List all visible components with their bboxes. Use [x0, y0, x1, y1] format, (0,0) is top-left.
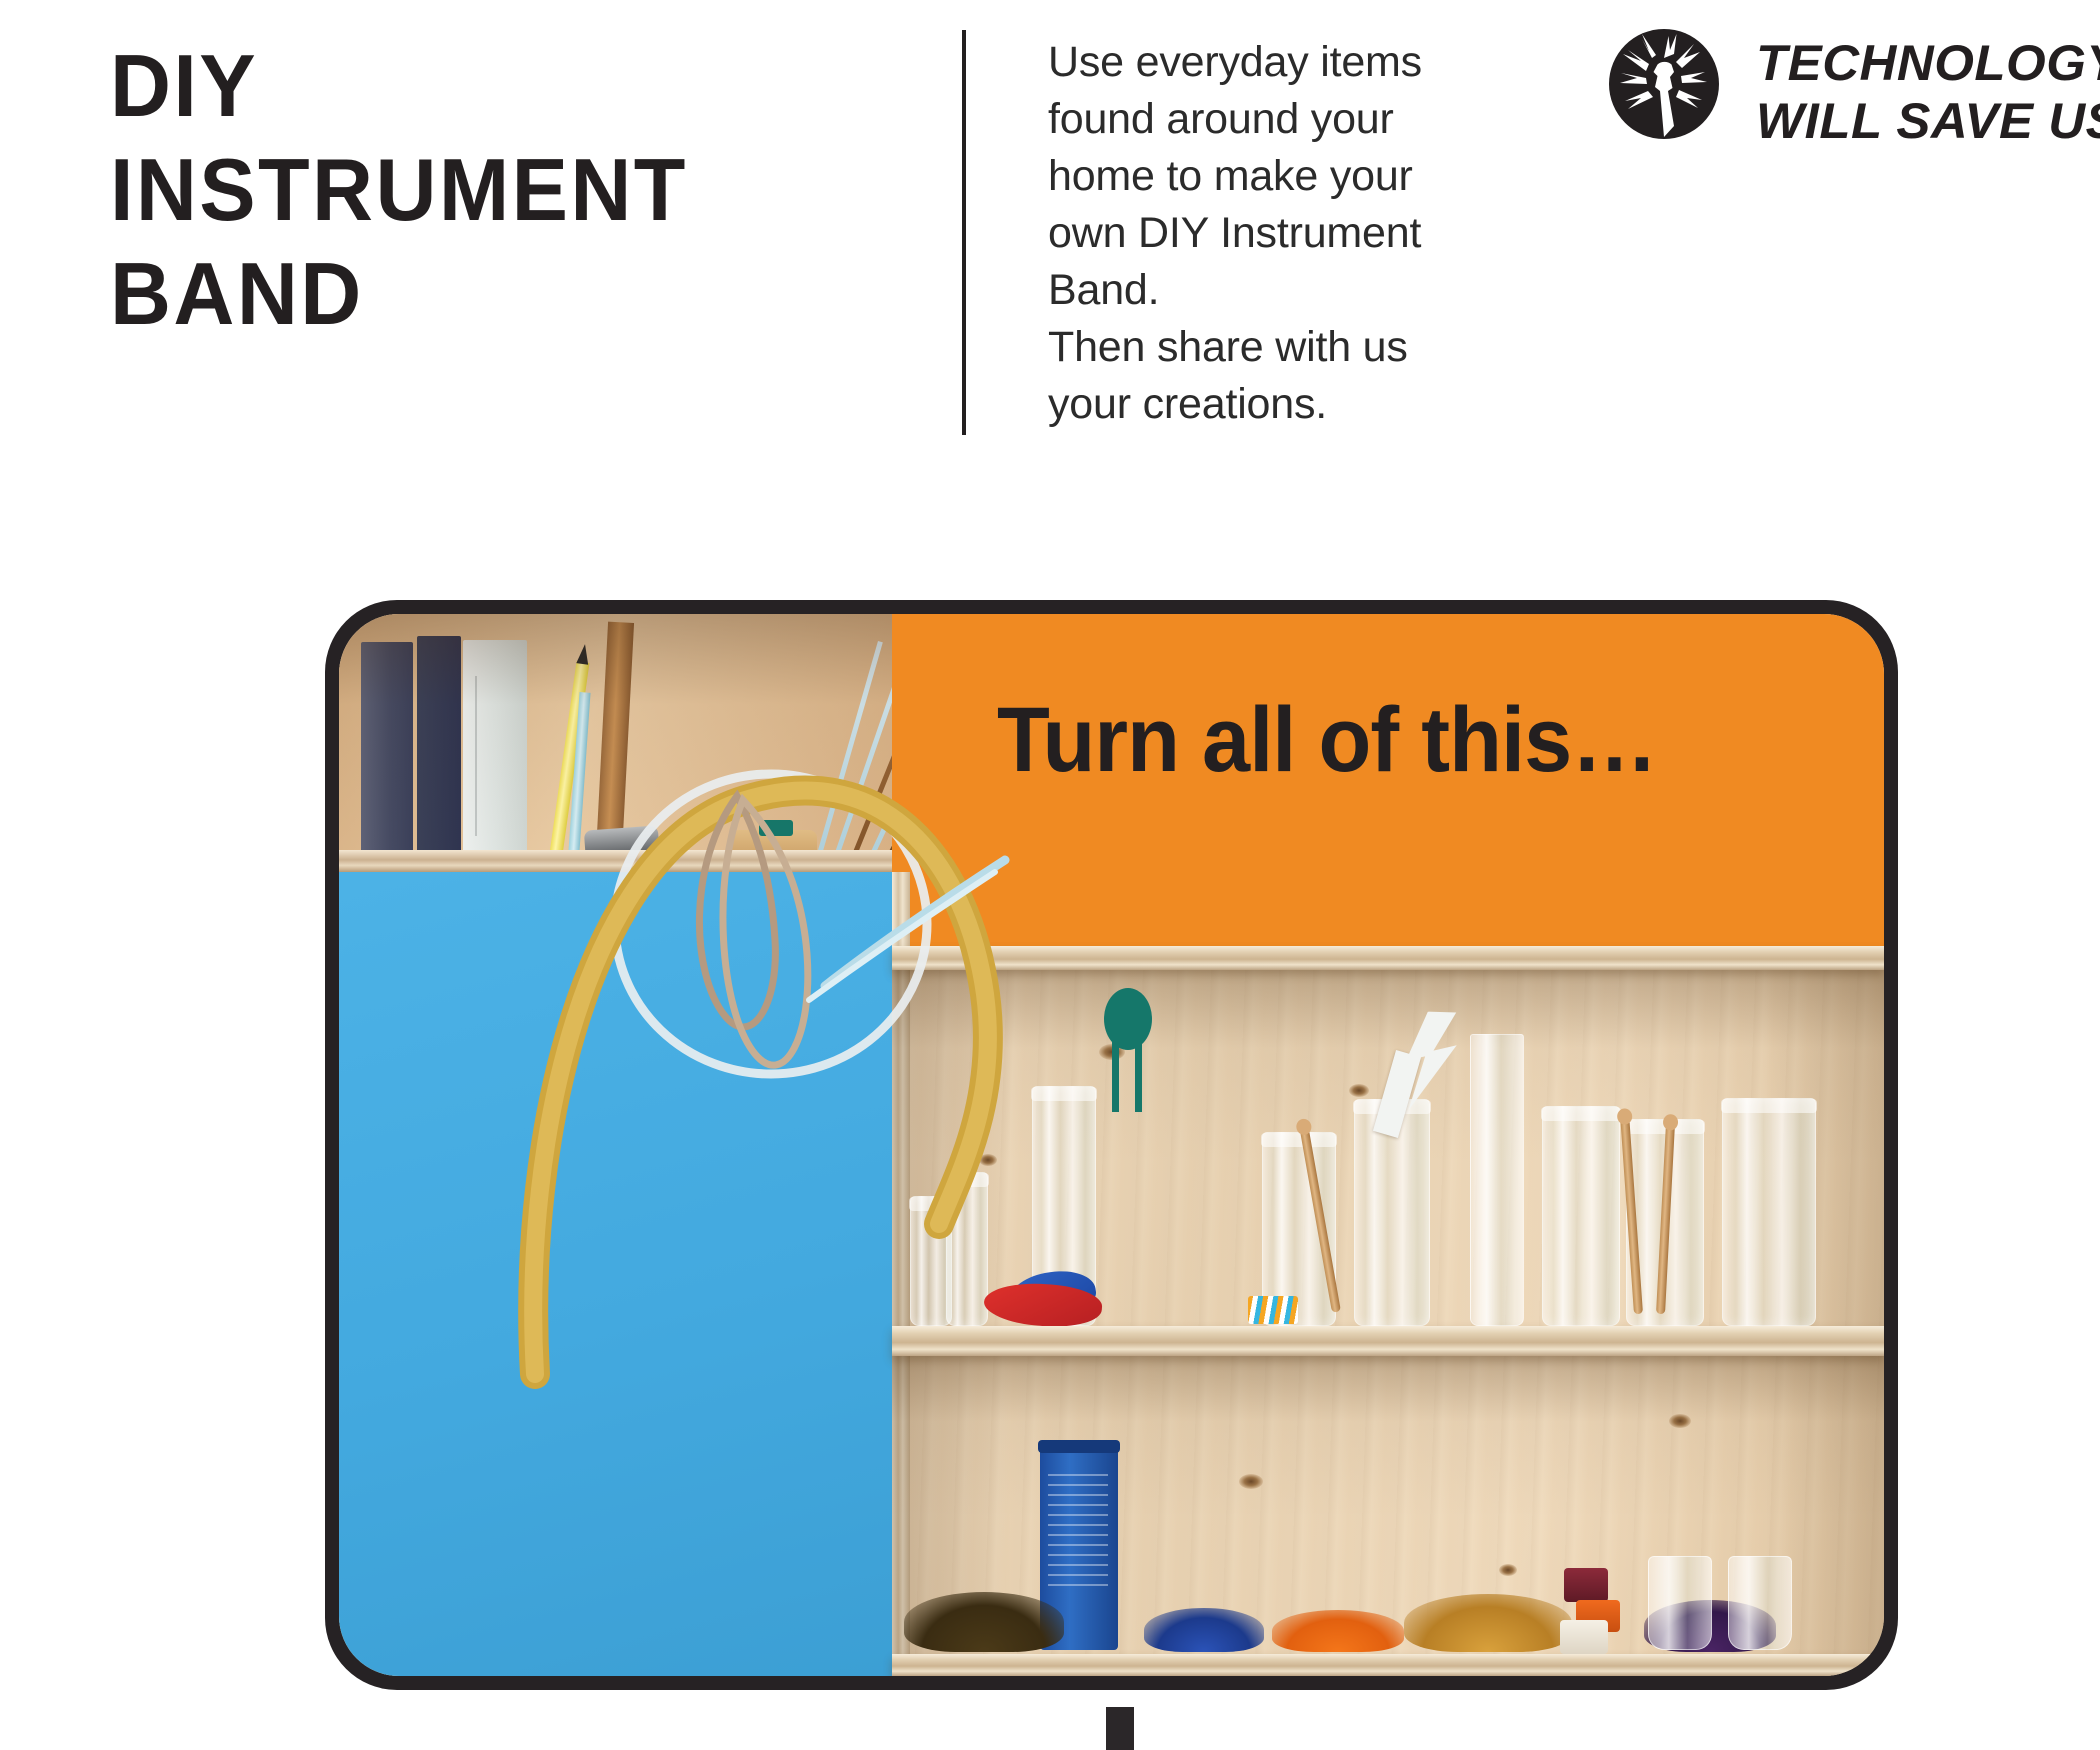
canister-label: [1048, 1474, 1108, 1594]
orange-lentils-pile: [1272, 1610, 1404, 1652]
title-line-1: DIY: [110, 34, 686, 138]
blurb-line-4: own DIY Instrument: [1048, 205, 1488, 262]
glass-jar: [1722, 1098, 1816, 1326]
shelf-plank-middle: [892, 1326, 1884, 1356]
banner-panel: Turn all of this…: [892, 614, 1884, 946]
green-wall-clip: [1104, 988, 1152, 1050]
materials-photo-card: Turn all of this…: [325, 600, 1898, 1690]
blurb-line-5: Band.: [1048, 262, 1488, 319]
lightning-burst-circle-icon: [1608, 28, 1720, 140]
blurb-line-6: Then share with us: [1048, 319, 1488, 376]
washi-tape-roll: [1564, 1568, 1608, 1602]
washi-tape: [1248, 1296, 1298, 1324]
tall-glass-bottle: [1470, 1034, 1524, 1326]
blurb-line-7: your creations.: [1048, 376, 1488, 433]
header-divider: [962, 30, 966, 435]
shelf-plank-bottom: [892, 1654, 1884, 1676]
cubby-shadow: [339, 614, 892, 872]
glass-jar: [1542, 1106, 1620, 1326]
brand-logo: TECHNOLOGY WILL SAVE US.: [1608, 28, 2100, 150]
flow-connector-tick: [1106, 1707, 1134, 1750]
top-cubby: [339, 614, 892, 872]
blurb-line-2: found around your: [1048, 91, 1488, 148]
bottom-shelf: [892, 1356, 1884, 1654]
title-line-2: INSTRUMENT: [110, 138, 686, 242]
blue-stones-pile: [1144, 1608, 1264, 1652]
upturned-glass: [1648, 1556, 1712, 1650]
intro-blurb: Use everyday items found around your hom…: [1048, 34, 1488, 433]
materials-photo: Turn all of this…: [339, 614, 1884, 1676]
title-line-3: BAND: [110, 242, 686, 346]
brand-line-2: WILL SAVE US.: [1756, 92, 2100, 150]
page-header: DIY INSTRUMENT BAND Use everyday items f…: [0, 0, 2100, 420]
middle-shelf: [892, 970, 1884, 1326]
cubby-ledge: [339, 850, 892, 872]
shelf-plank-top: [892, 946, 1884, 970]
upturned-glass: [1728, 1556, 1792, 1650]
dark-seeds-pile: [904, 1592, 1064, 1652]
page-title: DIY INSTRUMENT BAND: [110, 34, 710, 346]
blurb-line-3: home to make your: [1048, 148, 1488, 205]
brand-wordmark: TECHNOLOGY WILL SAVE US.: [1756, 28, 2100, 150]
washi-tape-roll: [1560, 1620, 1608, 1654]
brand-line-1: TECHNOLOGY: [1756, 34, 2100, 92]
blue-door-panel: [339, 872, 892, 1676]
glass-jar: [946, 1172, 988, 1326]
banner-heading: Turn all of this…: [997, 692, 1657, 788]
blurb-line-1: Use everyday items: [1048, 34, 1488, 91]
corn-kernels-pile: [1404, 1594, 1572, 1652]
